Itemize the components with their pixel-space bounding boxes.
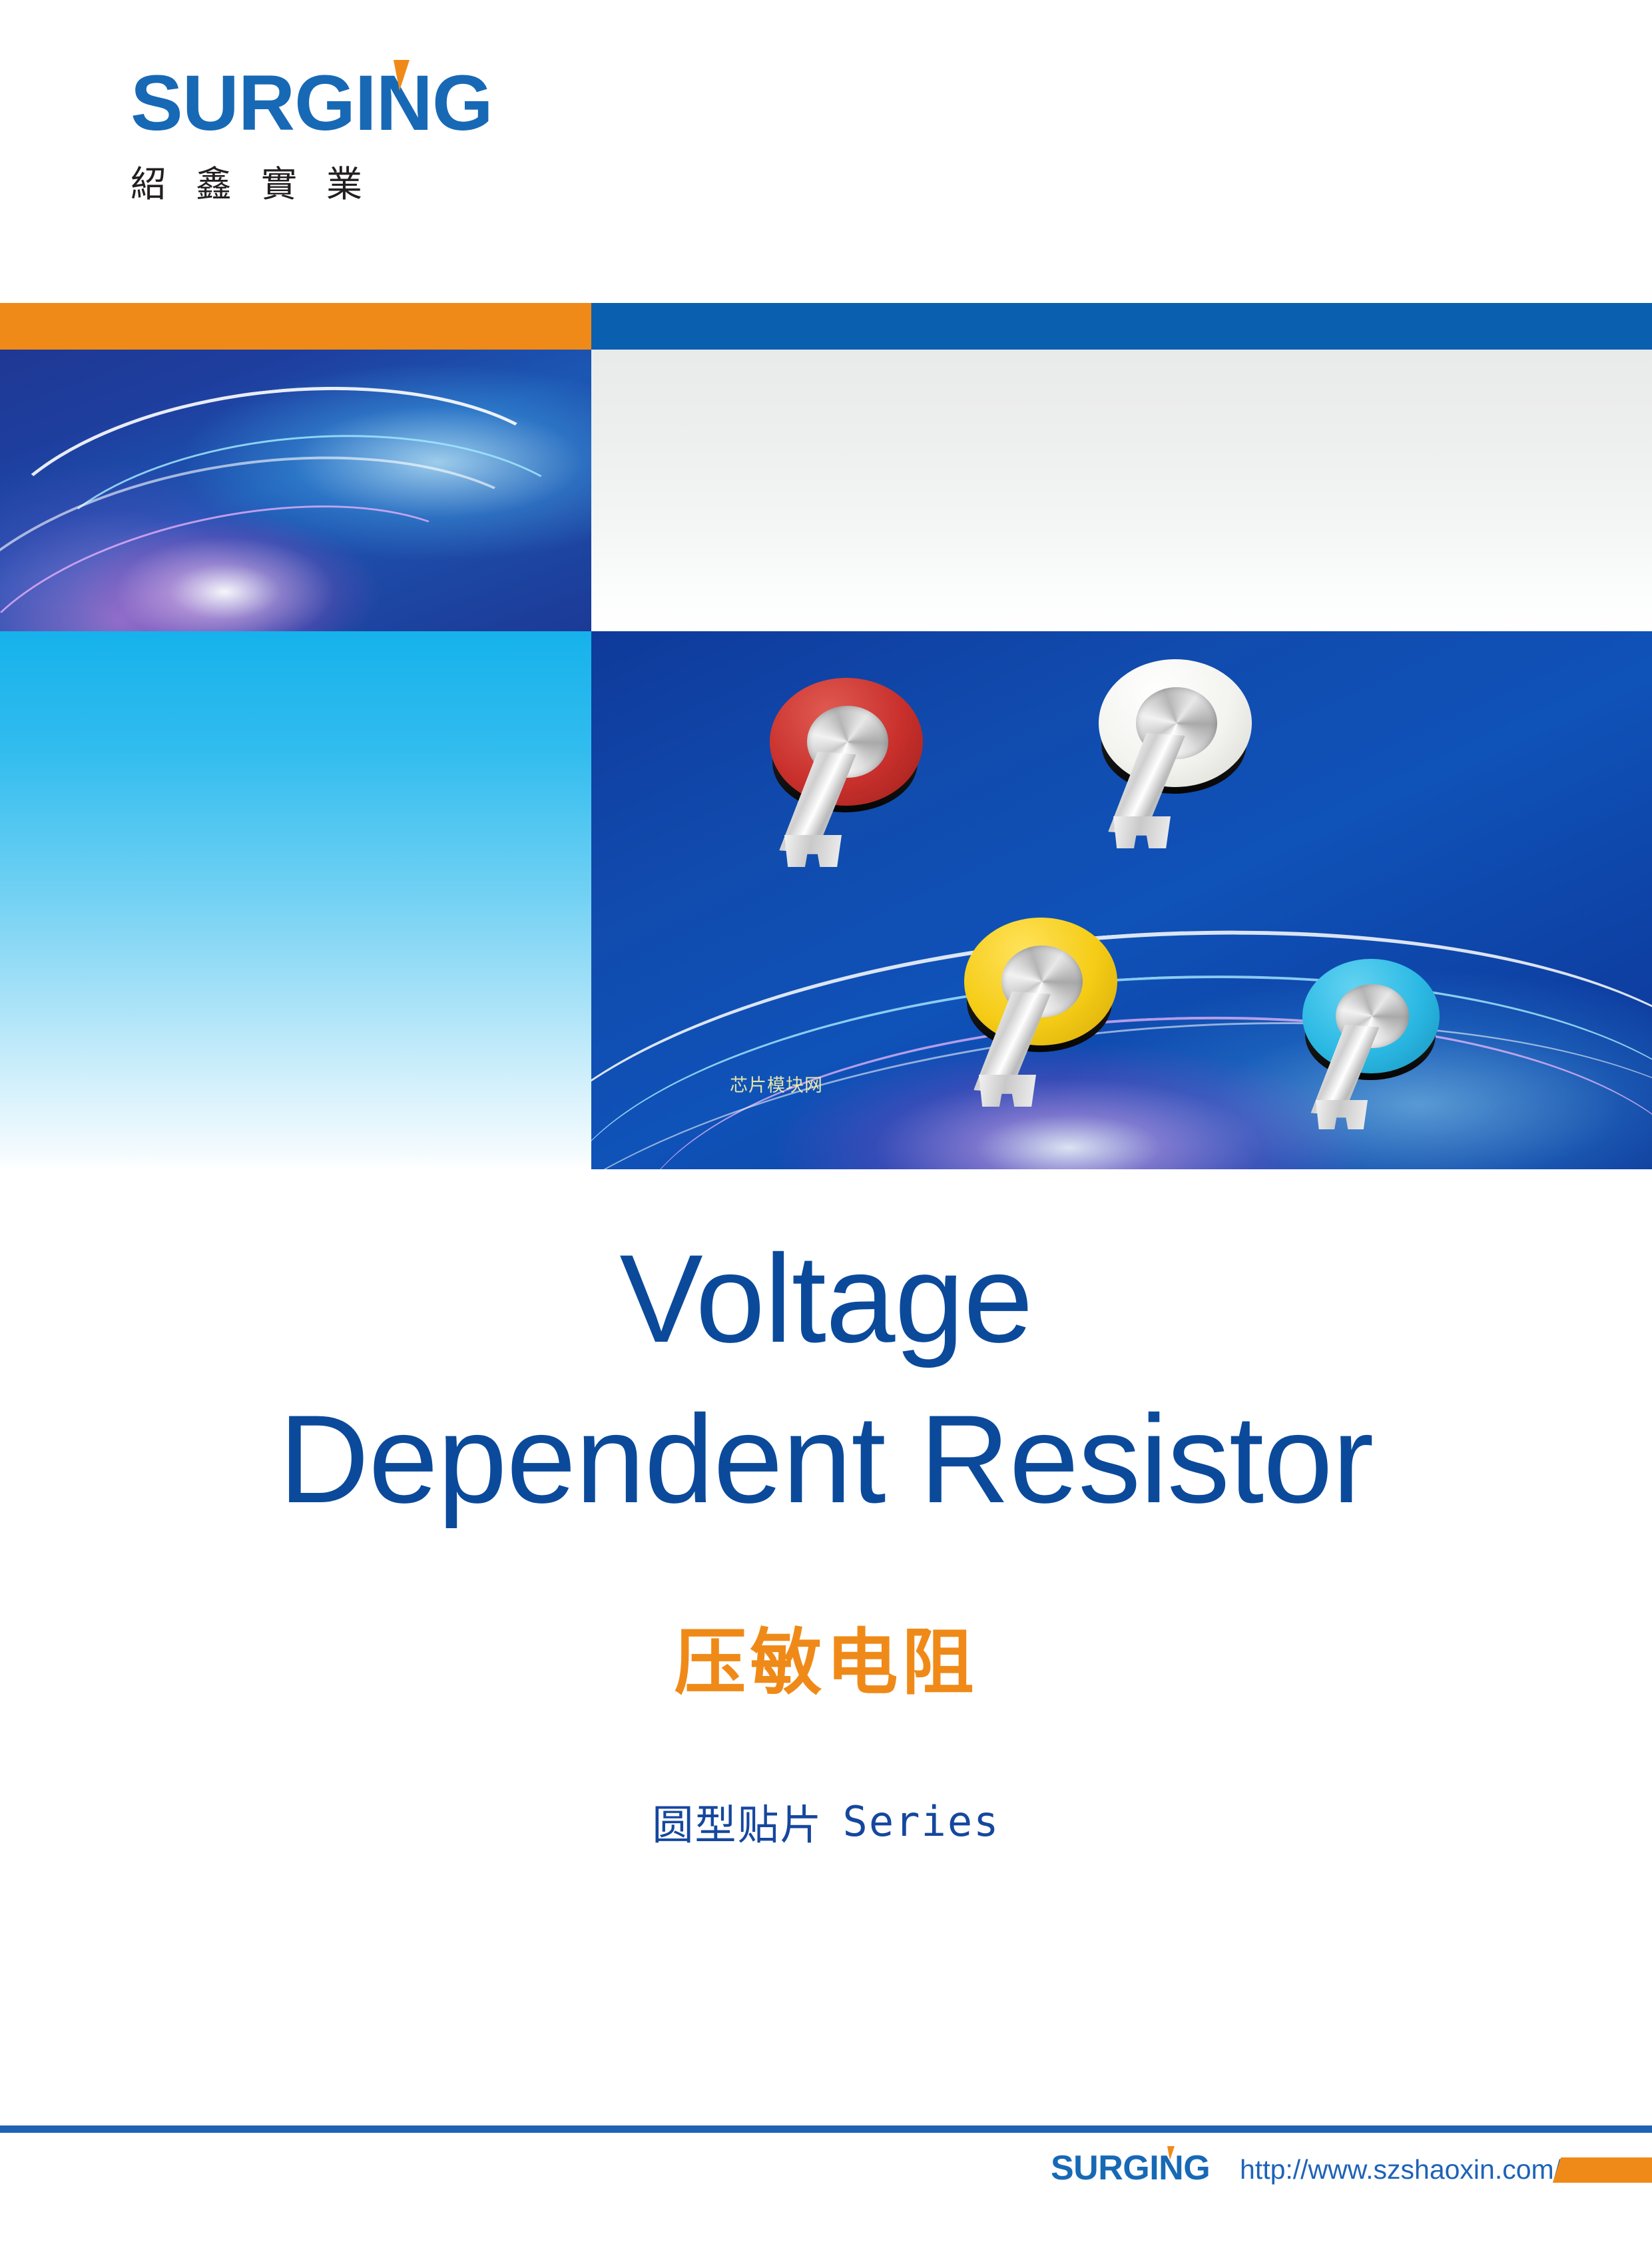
hero-light-panel <box>591 350 1652 631</box>
series-subtitle-english: Series <box>843 1797 1000 1846</box>
logo-accent-dot-icon <box>394 60 410 91</box>
page-title-chinese: 压敏电阻 <box>0 1605 1652 1709</box>
hero-cyan-gradient-panel <box>0 631 591 1169</box>
hero-panel-top-left <box>0 298 591 631</box>
footer-logo-label: SURGING <box>1051 2149 1210 2187</box>
footer-divider <box>0 2125 1652 2133</box>
logo-wordmark-label: SURGING <box>131 59 493 147</box>
logo-wordmark-text: SURGING <box>131 64 597 142</box>
logo-chinese-name: 紹鑫實業 <box>131 154 597 207</box>
varistor-red <box>770 678 923 831</box>
page-title-line2: Dependent Resistor <box>0 1379 1652 1540</box>
page-title-line1: Voltage <box>0 1219 1652 1379</box>
varistor-cyan <box>1302 959 1440 1096</box>
footer-orange-slab <box>1553 2157 1652 2183</box>
hero-blue-bar <box>591 303 1652 350</box>
hero-abstract-light-art <box>0 350 591 631</box>
varistor-foot <box>1113 816 1171 848</box>
footer-logo: SURGING <box>1051 2148 1210 2188</box>
series-subtitle-chinese: 圆型贴片 <box>653 1801 823 1849</box>
product-photo-background: 芯片模块网 <box>591 631 1652 1169</box>
footer-website-url[interactable]: http://www.szshaoxin.com/ <box>1240 2154 1561 2185</box>
page-title-english: Voltage Dependent Resistor <box>0 1219 1652 1539</box>
image-watermark: 芯片模块网 <box>730 1071 823 1097</box>
page-footer: SURGING http://www.szshaoxin.com/ <box>0 2145 1652 2205</box>
hero-panel-bottom-right: 芯片模块网 <box>591 631 1652 1169</box>
company-logo: SURGING 紹鑫實業 <box>131 64 597 207</box>
hero-panel-top-right <box>591 298 1652 631</box>
varistor-foot <box>784 835 842 867</box>
series-subtitle: 圆型贴片Series <box>0 1791 1652 1851</box>
hero-orange-bar <box>0 303 591 350</box>
varistor-white <box>1099 659 1252 812</box>
varistor-yellow <box>964 918 1117 1071</box>
footer-logo-accent-dot-icon <box>1167 2146 1175 2160</box>
hero-collage: 芯片模块网 <box>0 298 1652 1169</box>
hero-panel-bottom-left <box>0 631 591 1169</box>
